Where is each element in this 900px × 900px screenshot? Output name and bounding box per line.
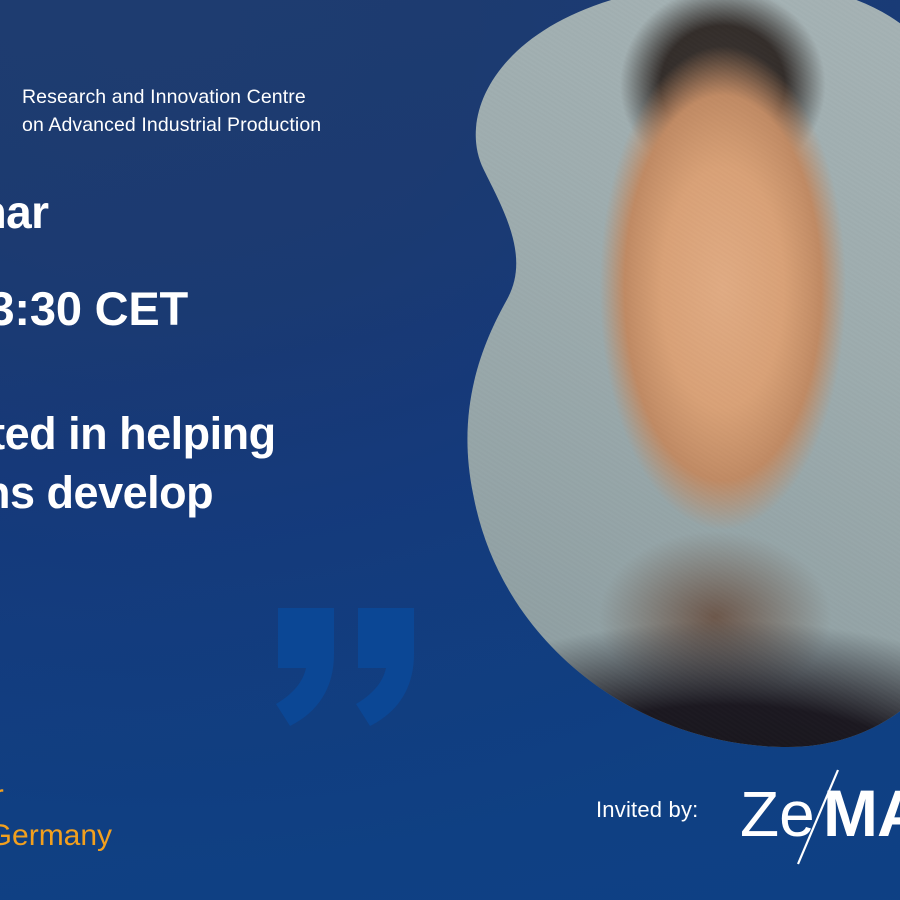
quote-line-3: resilient AI [0, 523, 276, 582]
speaker-info: Founder ZeMA, Germany [0, 776, 112, 855]
organisation-line-1: Research and Innovation Centre [22, 84, 442, 112]
organisation-name: Research and Innovation Centre on Advanc… [22, 84, 442, 139]
organisation-line-2: on Advanced Industrial Production [22, 112, 442, 140]
quote-line-1: I am interested in helping [0, 404, 276, 463]
speaker-photo-image [455, 0, 900, 747]
quote-text: I am interested in helping organisations… [0, 404, 276, 582]
event-datetime: 25 | 13:30 CET [0, 284, 188, 335]
speaker-affiliation: ZeMA, Germany [0, 816, 112, 856]
webinar-poster: Research and Innovation Centre on Advanc… [0, 0, 900, 900]
page-title: Webinar [0, 188, 48, 238]
speaker-role: Founder [0, 776, 112, 816]
invited-by-label: Invited by: [596, 797, 698, 823]
speaker-photo [455, 0, 900, 747]
photo-grain-overlay [455, 0, 900, 747]
quote-line-2: organisations develop [0, 463, 276, 522]
